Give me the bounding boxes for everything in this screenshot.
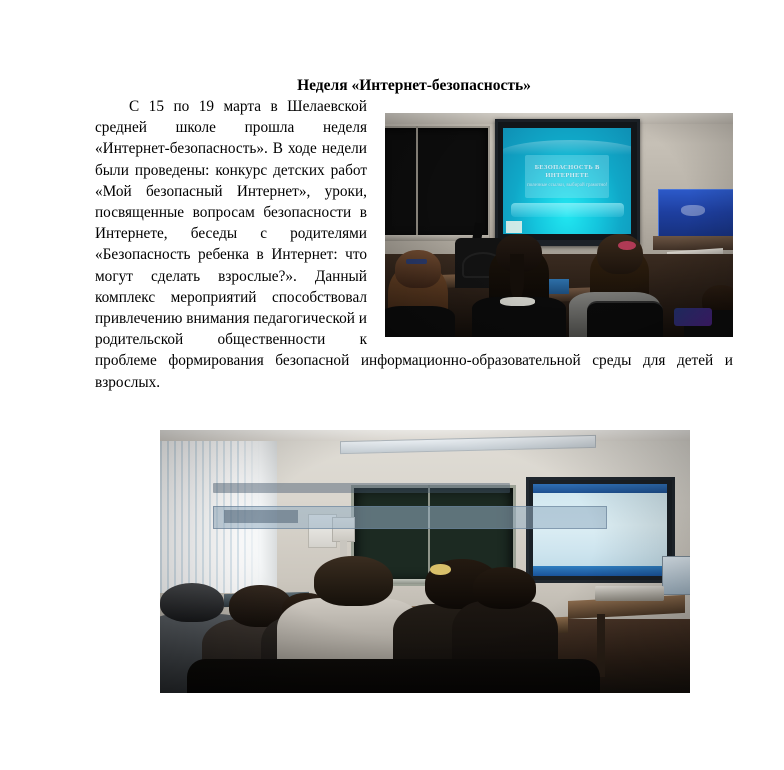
document-page: БЕЗОПАСНОСТЬ В ИНТЕРНЕТЕ полезные ссылки… xyxy=(0,0,784,770)
page-title: Неделя «Интернет-безопасность» xyxy=(95,76,733,95)
screen-heading-line xyxy=(213,483,510,494)
laptop-screen-right xyxy=(662,556,691,595)
attendee-6-head xyxy=(473,567,537,609)
attendee-4-head xyxy=(314,556,394,606)
attendee-5-hairclip xyxy=(430,564,451,575)
photo-1-text-wrap-spacer xyxy=(381,113,733,345)
photo-classroom-audience xyxy=(160,430,690,693)
screen-input-text xyxy=(224,510,298,523)
interactive-whiteboard-screen xyxy=(533,484,668,576)
attendee-1-head xyxy=(160,583,224,622)
interactive-whiteboard-frame xyxy=(526,477,675,583)
projector xyxy=(595,586,664,600)
article-body: С 15 по 19 марта в Шелаевской средней шк… xyxy=(95,96,733,393)
taskbar xyxy=(533,566,668,576)
front-row-silhouette xyxy=(187,659,600,693)
projector-table-leg xyxy=(597,614,605,677)
chalkboard-divider xyxy=(428,485,430,580)
browser-title-bar xyxy=(533,484,668,492)
